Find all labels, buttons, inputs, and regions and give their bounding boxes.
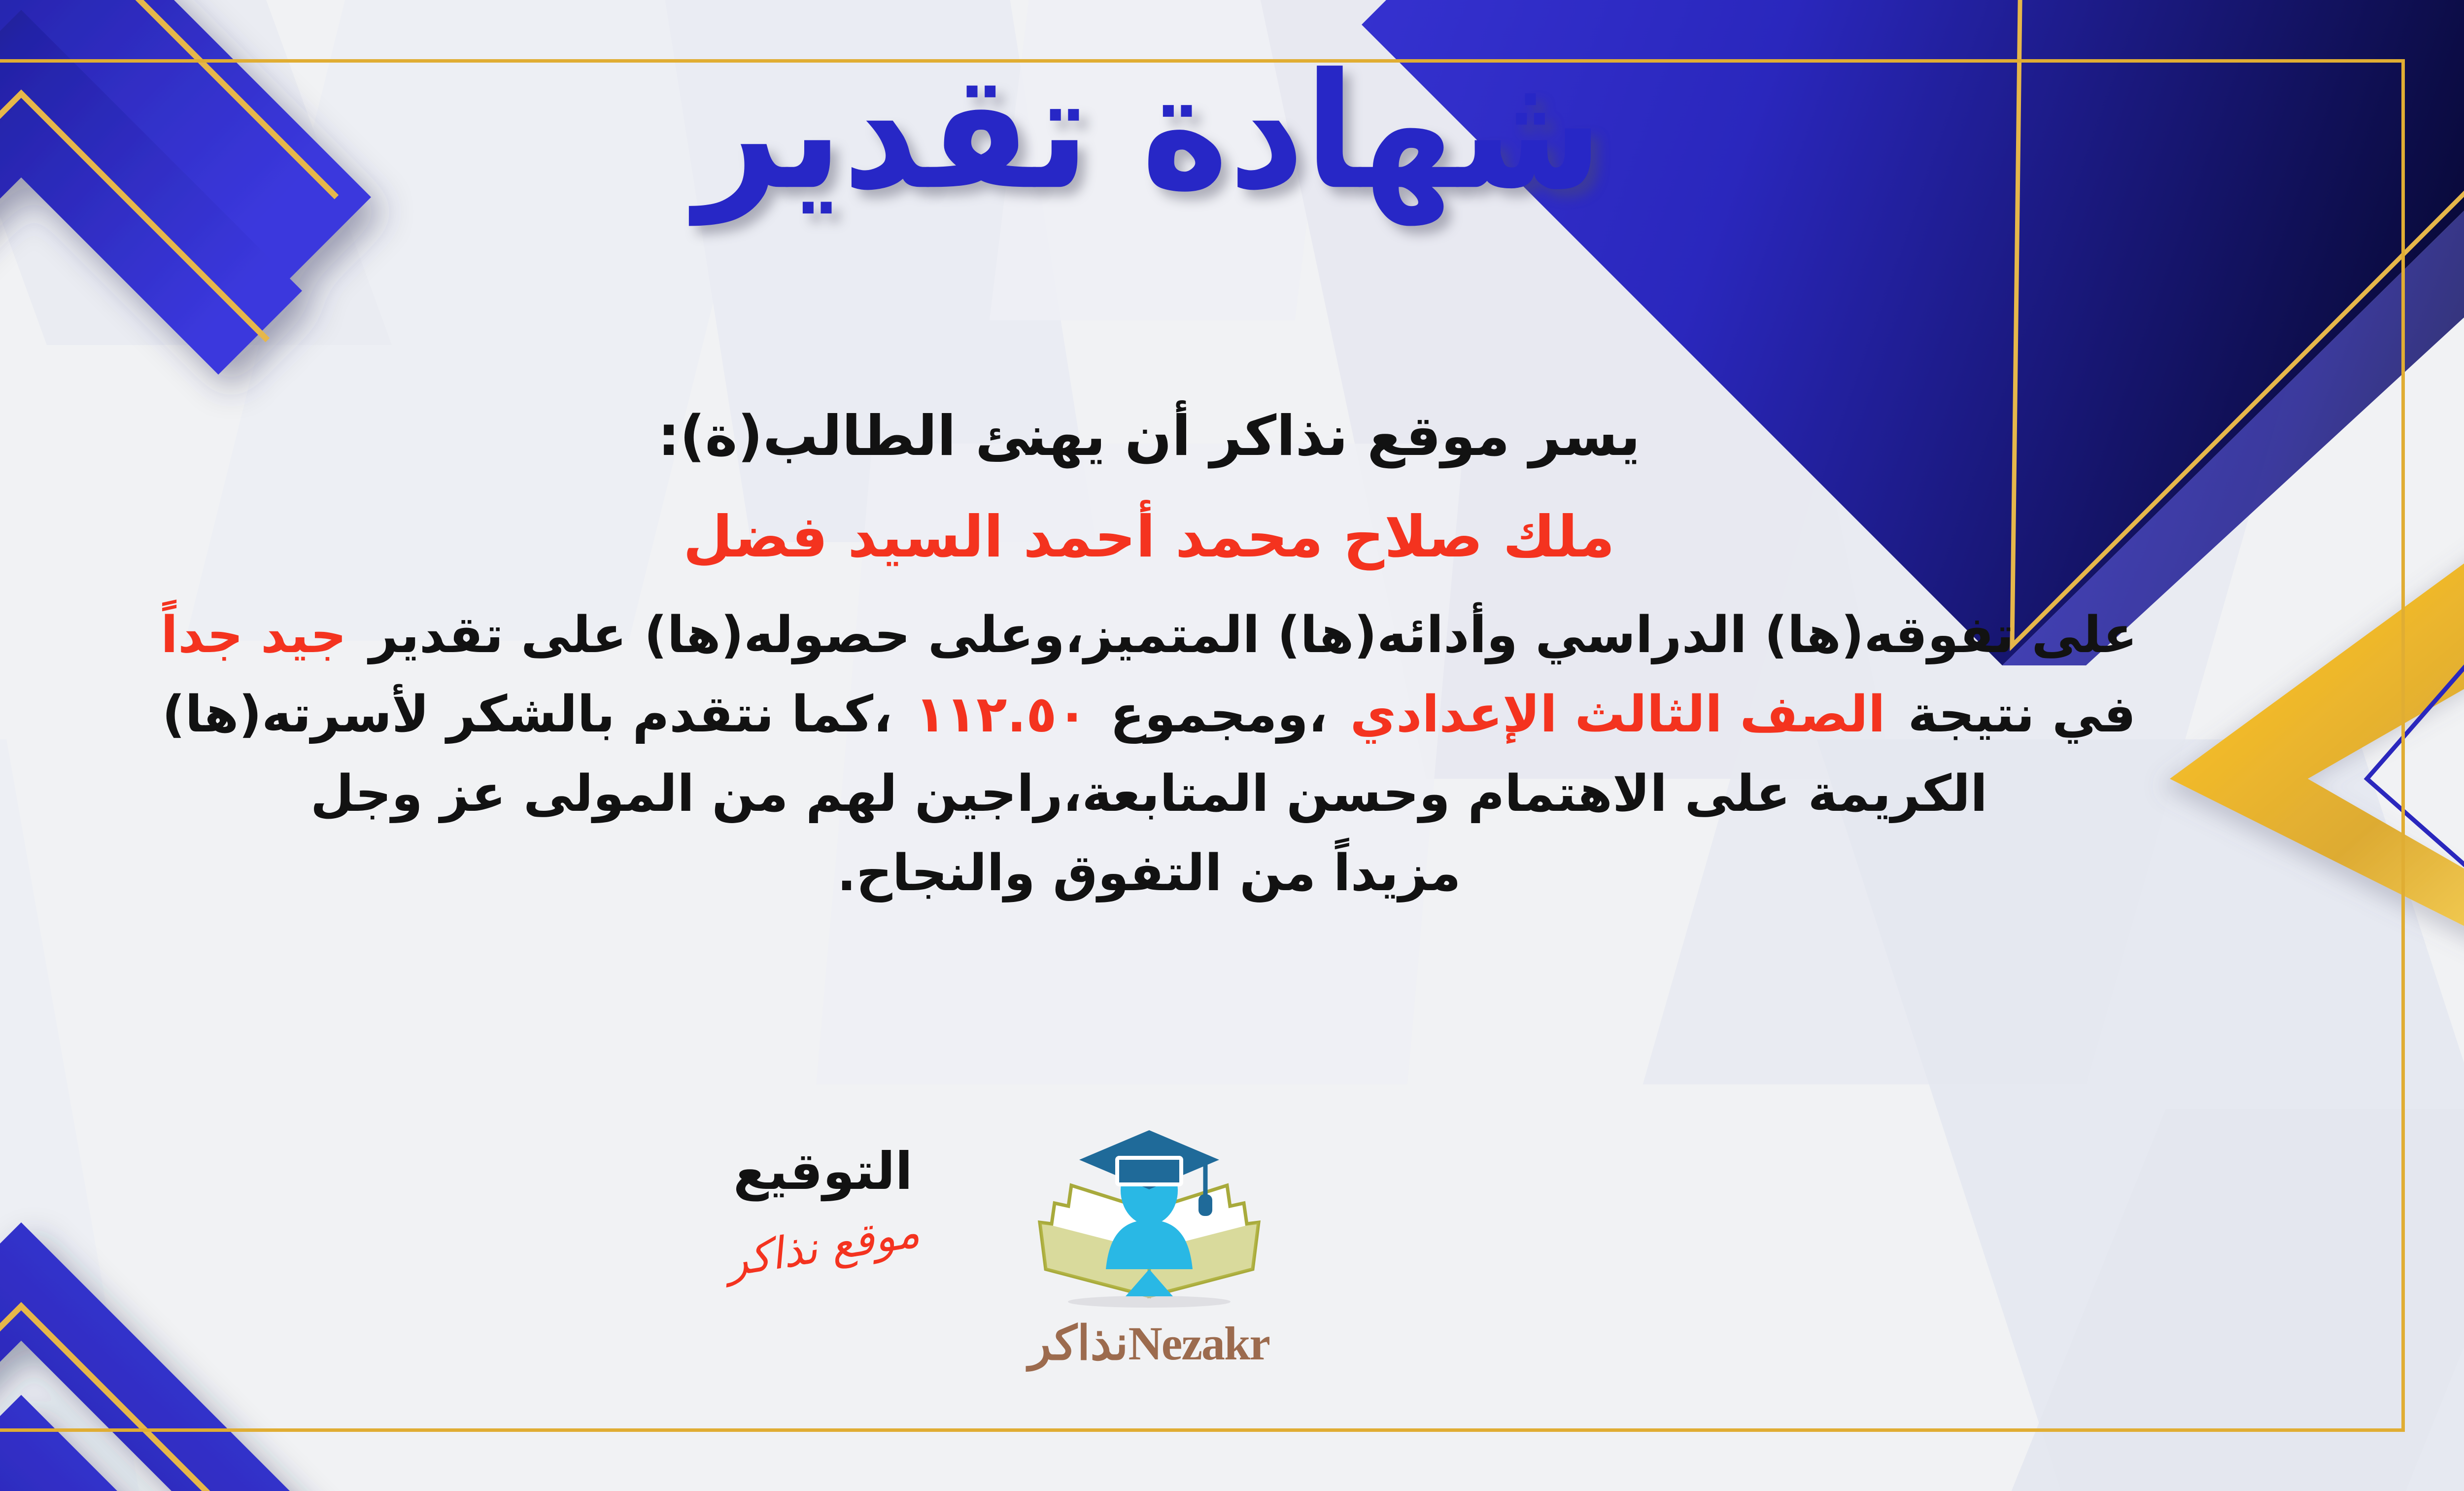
thanks-prefix-text: ،كما نتقدم بالشكر لأسرته(ها) (162, 685, 892, 744)
signature-mark: موقع نذاكر (723, 1206, 923, 1287)
certificate-canvas: شهادة تقدير يسر موقع نذاكر أن يهنئ الطال… (0, 0, 2464, 1491)
certificate-footer: التوقيع موقع نذاكر (0, 1121, 2316, 1397)
logo-arabic-text: نذاكر (1028, 1317, 1128, 1370)
page-title: شهادة تقدير (695, 48, 1603, 215)
grade-and-score-line: في نتيجةالصف الثالث الإعدادي،ومجموع١١٢.٥… (0, 676, 2336, 753)
logo-latin-text: Nezakr (1128, 1317, 1269, 1370)
family-thanks-line: الكريمة على الاهتمام وحسن المتابعة،راجين… (0, 756, 2336, 832)
brand-logo: Nezakrنذاكر (927, 1121, 1371, 1371)
total-score-value: ١١٢.٥٠ (915, 685, 1088, 744)
achievement-line: على تفوقه(ها) الدراسي وأدائه(ها) المتميز… (0, 597, 2336, 673)
logo-graphic (996, 1121, 1302, 1318)
grade-level-value: الصف الثالث الإعدادي (1350, 685, 1885, 744)
logo-wordmark: Nezakrنذاكر (927, 1316, 1371, 1371)
result-prefix-text: في نتيجة (1908, 685, 2136, 744)
certificate-title-area: شهادة تقدير (0, 54, 2464, 209)
intro-line: يسر موقع نذاكر أن يهنئ الطالب(ة): (0, 394, 2336, 478)
closing-wish-line: مزيداً من التفوق والنجاح. (0, 835, 2336, 911)
grade-rating-value: جيد جداً (161, 606, 346, 664)
total-prefix-text: ،ومجموع (1110, 685, 1328, 744)
achievement-text: على تفوقه(ها) الدراسي وأدائه(ها) المتميز… (369, 606, 2137, 664)
student-name: ملك صلاح محمد أحمد السيد فضل (0, 504, 2336, 570)
certificate-body: يسر موقع نذاكر أن يهنئ الطالب(ة): ملك صل… (0, 394, 2336, 914)
